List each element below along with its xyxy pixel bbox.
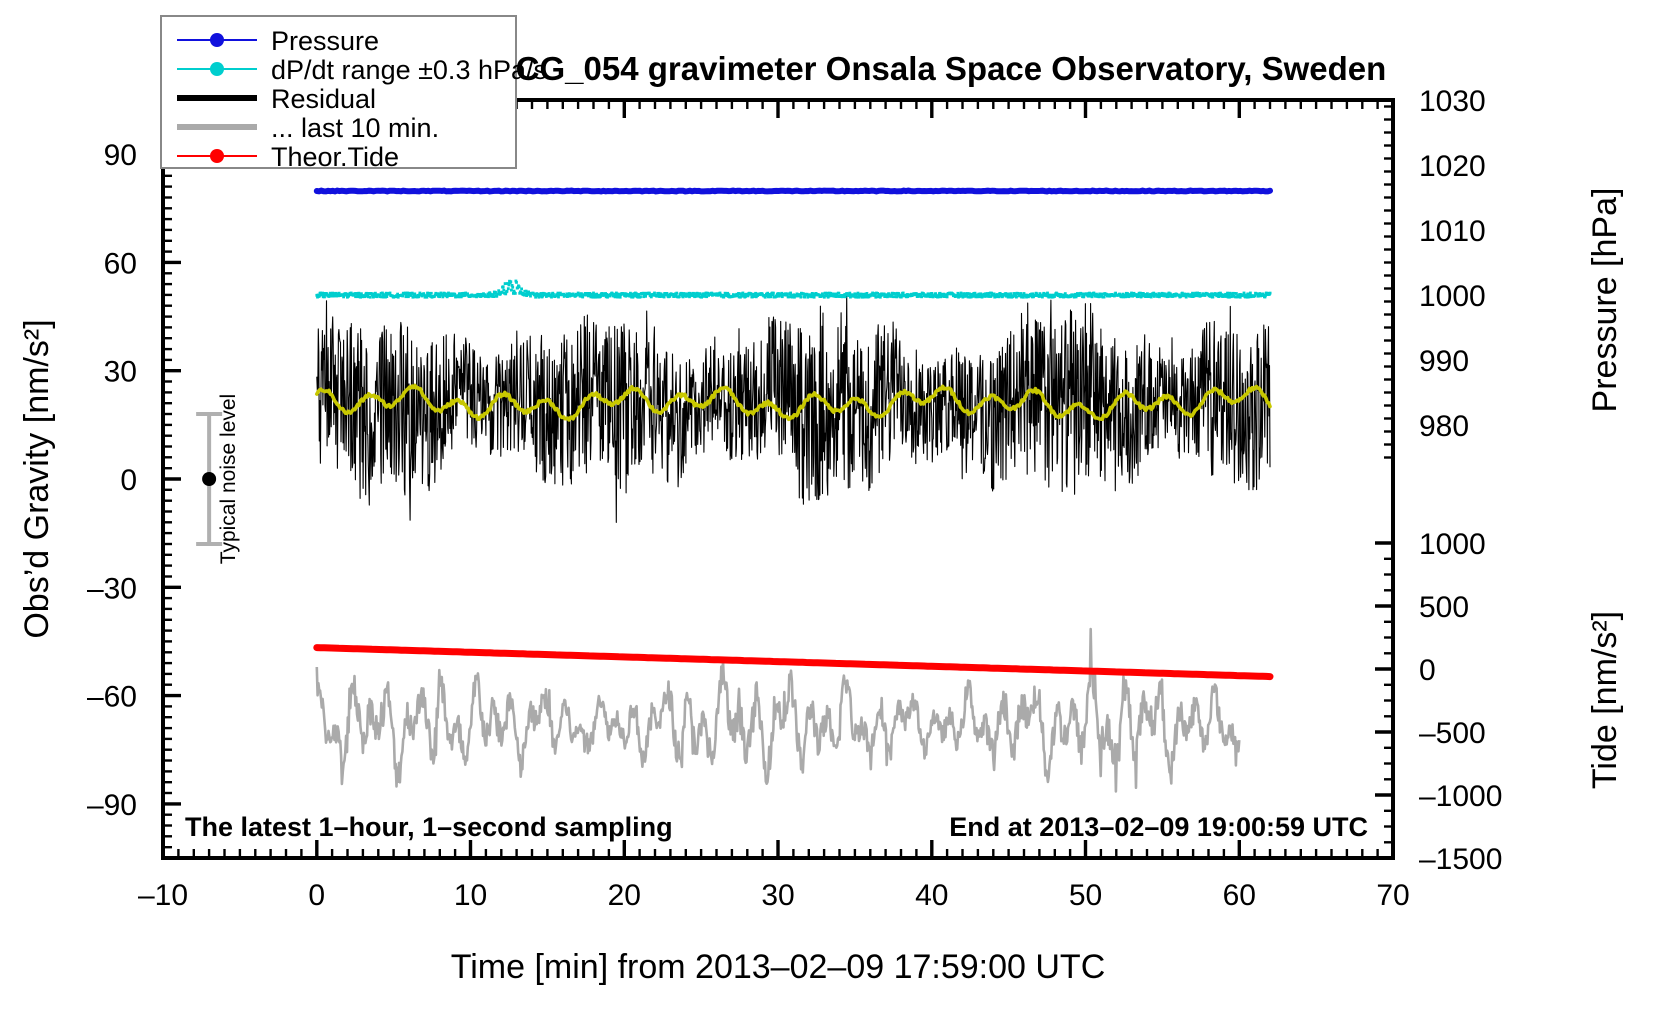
- dpdt-point: [1146, 292, 1149, 295]
- legend-label: Theor.Tide: [271, 142, 399, 172]
- y-tick-label-pressure: 1020: [1419, 150, 1486, 183]
- series-dpdt-range: [315, 280, 1271, 299]
- dpdt-point: [1103, 296, 1106, 299]
- dpdt-point: [457, 296, 460, 299]
- y-axis-title-gravity: Obs’d Gravity [nm/s²]: [18, 319, 56, 638]
- legend: PressuredP/dt range ±0.3 hPa/sResidual..…: [161, 16, 547, 172]
- dpdt-point: [520, 288, 523, 291]
- dpdt-point: [518, 285, 521, 288]
- y-axis-title-pressure: Pressure [hPa]: [1586, 188, 1624, 413]
- dpdt-point: [1269, 292, 1272, 295]
- y-tick-label-gravity: 30: [104, 356, 137, 389]
- legend-label: Residual: [271, 84, 376, 114]
- dpdt-point: [534, 296, 537, 299]
- dpdt-point: [510, 289, 513, 292]
- dpdt-point: [968, 292, 971, 295]
- dpdt-point: [698, 292, 701, 295]
- dpdt-point: [514, 292, 517, 295]
- y-tick-label-gravity: 60: [104, 247, 137, 280]
- x-tick-label: 30: [761, 879, 794, 912]
- y-tick-label-pressure: 1010: [1419, 215, 1486, 248]
- noise-bar-center-dot: [202, 472, 216, 486]
- dpdt-point: [799, 296, 802, 299]
- dpdt-point: [502, 285, 505, 288]
- dpdt-point: [504, 282, 507, 285]
- legend-marker-icon: [210, 33, 224, 47]
- noise-bar-label: Typical noise level: [217, 394, 240, 564]
- chart-canvas: –100102030405060709060300–30–60–90103010…: [0, 0, 1660, 1020]
- y-tick-label-gravity: –60: [87, 681, 137, 714]
- x-tick-label: 70: [1376, 879, 1409, 912]
- dpdt-point: [1082, 296, 1085, 299]
- typical-noise-level-marker: Typical noise level: [196, 394, 240, 564]
- y-tick-label-tide: 500: [1419, 591, 1469, 624]
- y-tick-label-gravity: –90: [87, 789, 137, 822]
- dpdt-point: [902, 292, 905, 295]
- dpdt-point: [529, 295, 532, 298]
- y-axis-title-tide: Tide [nm/s²]: [1586, 611, 1624, 789]
- x-tick-label: 0: [308, 879, 325, 912]
- dpdt-point: [772, 292, 775, 295]
- series-theor-tide: [317, 648, 1270, 677]
- x-tick-label: –10: [138, 879, 188, 912]
- dpdt-point: [1249, 292, 1252, 295]
- y-tick-label-gravity: 0: [120, 464, 137, 497]
- y-tick-label-pressure: 990: [1419, 345, 1469, 378]
- x-tick-label: 20: [608, 879, 641, 912]
- y-tick-label-tide: 0: [1419, 654, 1436, 687]
- y-tick-label-tide: –500: [1419, 717, 1486, 750]
- dpdt-point: [430, 292, 433, 295]
- dpdt-point: [853, 292, 856, 295]
- x-tick-label: 10: [454, 879, 487, 912]
- series-residual: [317, 295, 1270, 523]
- y-tick-label-pressure: 1000: [1419, 280, 1486, 313]
- dpdt-point: [389, 292, 392, 295]
- dpdt-point: [507, 287, 510, 290]
- dpdt-point: [675, 292, 678, 295]
- legend-label: ... last 10 min.: [271, 113, 439, 143]
- dpdt-point: [619, 296, 622, 299]
- dpdt-point: [1091, 295, 1094, 298]
- tick-group: [1375, 543, 1393, 858]
- series-pressure: [317, 191, 1270, 192]
- dpdt-point: [789, 292, 792, 295]
- gravimeter-plot: –100102030405060709060300–30–60–90103010…: [0, 0, 1660, 1020]
- y-tick-label-tide: 1000: [1419, 528, 1486, 561]
- dpdt-point: [883, 293, 886, 296]
- dpdt-point: [1101, 293, 1104, 296]
- plot-title: SCG_054 gravimeter Onsala Space Observat…: [494, 50, 1387, 87]
- dpdt-point: [1015, 296, 1018, 299]
- dpdt-point: [946, 296, 949, 299]
- dpdt-point: [527, 291, 530, 294]
- legend-label: dP/dt range ±0.3 hPa/s: [271, 55, 547, 85]
- x-axis-title: Time [min] from 2013–02–09 17:59:00 UTC: [451, 948, 1106, 986]
- dpdt-point: [492, 295, 495, 298]
- series-layer: [315, 191, 1271, 792]
- dpdt-point: [920, 295, 923, 298]
- x-tick-label: 40: [915, 879, 948, 912]
- dpdt-point: [648, 292, 651, 295]
- legend-marker-icon: [210, 62, 224, 76]
- dpdt-point: [786, 292, 789, 295]
- dpdt-point: [497, 289, 500, 292]
- dpdt-point: [644, 295, 647, 298]
- dpdt-point: [550, 296, 553, 299]
- dpdt-point: [502, 289, 505, 292]
- dpdt-point: [487, 295, 490, 298]
- legend-label: Pressure: [271, 26, 379, 56]
- y-tick-label-gravity: 90: [104, 139, 137, 172]
- y-tick-label-pressure: 980: [1419, 410, 1469, 443]
- dpdt-point: [960, 292, 963, 295]
- x-tick-label: 60: [1223, 879, 1256, 912]
- dpdt-point: [515, 281, 518, 284]
- latest-sampling-note: The latest 1–hour, 1–second sampling: [185, 812, 673, 842]
- dpdt-point: [509, 280, 512, 283]
- dpdt-point: [700, 296, 703, 299]
- dpdt-point: [511, 286, 514, 289]
- y-tick-label-gravity: –30: [87, 572, 137, 605]
- tick-group: [163, 100, 181, 858]
- dpdt-point: [506, 290, 509, 293]
- dpdt-point: [323, 296, 326, 299]
- x-tick-label: 50: [1069, 879, 1102, 912]
- dpdt-point: [525, 294, 528, 297]
- axes: –100102030405060709060300–30–60–90103010…: [87, 85, 1503, 912]
- y-tick-label-tide: –1500: [1419, 843, 1502, 876]
- legend-marker-icon: [210, 149, 224, 163]
- end-time-note: End at 2013–02–09 19:00:59 UTC: [949, 812, 1368, 842]
- dpdt-point: [639, 295, 642, 298]
- plot-area: [315, 191, 1271, 792]
- dpdt-point: [838, 292, 841, 295]
- y-tick-label-tide: –1000: [1419, 780, 1502, 813]
- y-tick-label-pressure: 1030: [1419, 85, 1486, 118]
